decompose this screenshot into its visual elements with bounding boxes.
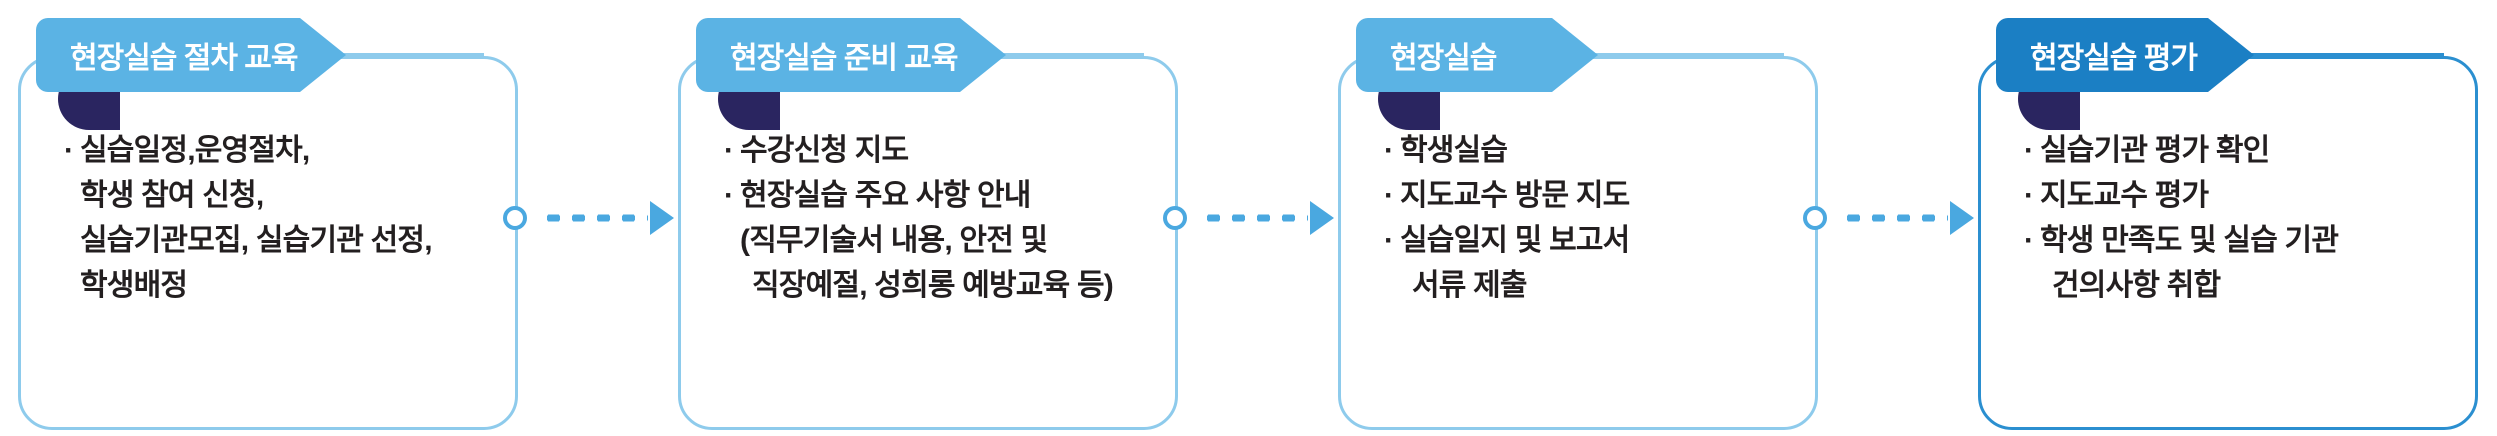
bullet-dot-icon: · (724, 173, 740, 218)
step-bullet-list-4: ·실습기관 평가 확인·지도교수 평가·학생 만족도 및 실습 기관·건의사항 … (1978, 128, 2478, 308)
connector-arrowhead-icon (1310, 201, 1334, 235)
process-step-card-2[interactable]: 현장실습 준비 교육·수강신청 지도·현장실습 주요 사항 안내·(직무기술서 … (678, 0, 1178, 436)
process-step-card-4[interactable]: 현장실습 평가·실습기관 평가 확인·지도교수 평가·학생 만족도 및 실습 기… (1978, 0, 2478, 436)
header-connector-line-4 (2250, 53, 2444, 56)
bullet-line-text: 학생실습 (1400, 128, 1507, 173)
bullet-line-text: 학생 참여 신청, (80, 173, 263, 218)
bullet-line-text: 지도교수 방문 지도 (1400, 173, 1629, 218)
bullet-line: ·(직무기술서 내용, 안전 및 (724, 218, 1144, 263)
bullet-dot-icon: · (2024, 173, 2040, 218)
bullet-line: ·실습일지 및 보고서 (1384, 218, 1784, 263)
header-connector-line-1 (342, 53, 484, 56)
connector-3-4 (1815, 205, 1974, 231)
step-header-label-1: 현장실습 절차 교육 (70, 33, 359, 77)
bullet-spacer: · (64, 173, 80, 218)
step-header-label-3: 현장실습 (1390, 33, 1558, 77)
bullet-line-text: 학생배정 (80, 263, 187, 308)
bullet-line: ·실습일정,운영절차, (64, 128, 484, 173)
step-bullet-list-2: ·수강신청 지도·현장실습 주요 사항 안내·(직무기술서 내용, 안전 및·직… (678, 128, 1178, 308)
bullet-spacer: · (724, 218, 740, 263)
bullet-line: ·학생 참여 신청, (64, 173, 484, 218)
bullet-dot-icon: · (2024, 128, 2040, 173)
bullet-line: ·학생 만족도 및 실습 기관 (2024, 218, 2444, 263)
bullet-spacer: · (2024, 263, 2040, 308)
bullet-spacer: · (724, 263, 740, 308)
step-header-1[interactable]: 현장실습 절차 교육 (36, 18, 346, 92)
bullet-line: ·건의사항 취합 (2024, 263, 2444, 308)
connector-arrowhead-icon (650, 201, 674, 235)
bullet-line: ·실습기관 평가 확인 (2024, 128, 2444, 173)
connector-dotted-line (541, 215, 648, 222)
step-bullet-list-3: ·학생실습·지도교수 방문 지도·실습일지 및 보고서·서류 제출 (1338, 128, 1818, 308)
bullet-line-text: 지도교수 평가 (2040, 173, 2208, 218)
header-connector-line-3 (1594, 53, 1784, 56)
step-header-2[interactable]: 현장실습 준비 교육 (696, 18, 1006, 92)
process-step-card-3[interactable]: 현장실습·학생실습·지도교수 방문 지도·실습일지 및 보고서·서류 제출 (1338, 0, 1818, 436)
bullet-line-text: 서류 제출 (1400, 263, 1527, 308)
bullet-line: ·수강신청 지도 (724, 128, 1144, 173)
step-header-label-2: 현장실습 준비 교육 (730, 33, 1019, 77)
bullet-line-text: (직무기술서 내용, 안전 및 (740, 218, 1047, 263)
connector-2-3 (1175, 205, 1334, 231)
bullet-line: ·지도교수 방문 지도 (1384, 173, 1784, 218)
bullet-line: ·직장예절, 성희롱 예방교육 등) (724, 263, 1144, 308)
bullet-line: ·지도교수 평가 (2024, 173, 2444, 218)
bullet-dot-icon: · (724, 128, 740, 173)
process-flow-diagram: 현장실습 절차 교육·실습일정,운영절차,·학생 참여 신청,·실습기관모집, … (0, 0, 2497, 436)
bullet-line: ·현장실습 주요 사항 안내 (724, 173, 1144, 218)
step-header-3[interactable]: 현장실습 (1356, 18, 1598, 92)
header-connector-line-2 (1002, 53, 1144, 56)
bullet-spacer: · (64, 218, 80, 263)
connector-1-2 (515, 205, 674, 231)
bullet-line-text: 수강신청 지도 (740, 128, 908, 173)
step-bullet-list-1: ·실습일정,운영절차,·학생 참여 신청,·실습기관모집, 실습기관 선정,·학… (18, 128, 518, 308)
bullet-line-text: 실습기관모집, 실습기관 선정, (80, 218, 432, 263)
step-header-label-4: 현장실습 평가 (2030, 33, 2259, 77)
bullet-line-text: 학생 만족도 및 실습 기관 (2040, 218, 2338, 263)
bullet-line: ·학생실습 (1384, 128, 1784, 173)
bullet-dot-icon: · (64, 128, 80, 173)
connector-arrowhead-icon (1950, 201, 1974, 235)
bullet-line: ·서류 제출 (1384, 263, 1784, 308)
bullet-line-text: 직장예절, 성희롱 예방교육 등) (740, 263, 1113, 308)
connector-node-circle-icon (503, 206, 527, 230)
bullet-spacer: · (1384, 263, 1400, 308)
bullet-line: ·학생배정 (64, 263, 484, 308)
bullet-line-text: 건의사항 취합 (2040, 263, 2220, 308)
bullet-line: ·실습기관모집, 실습기관 선정, (64, 218, 484, 263)
bullet-dot-icon: · (2024, 218, 2040, 263)
connector-node-circle-icon (1803, 206, 1827, 230)
bullet-dot-icon: · (1384, 173, 1400, 218)
bullet-line-text: 실습기관 평가 확인 (2040, 128, 2269, 173)
connector-dotted-line (1841, 215, 1948, 222)
bullet-dot-icon: · (1384, 218, 1400, 263)
step-header-4[interactable]: 현장실습 평가 (1996, 18, 2254, 92)
bullet-dot-icon: · (1384, 128, 1400, 173)
process-step-card-1[interactable]: 현장실습 절차 교육·실습일정,운영절차,·학생 참여 신청,·실습기관모집, … (18, 0, 518, 436)
connector-node-circle-icon (1163, 206, 1187, 230)
bullet-line-text: 현장실습 주요 사항 안내 (740, 173, 1031, 218)
bullet-line-text: 실습일정,운영절차, (80, 128, 309, 173)
bullet-spacer: · (64, 263, 80, 308)
connector-dotted-line (1201, 215, 1308, 222)
bullet-line-text: 실습일지 및 보고서 (1400, 218, 1629, 263)
